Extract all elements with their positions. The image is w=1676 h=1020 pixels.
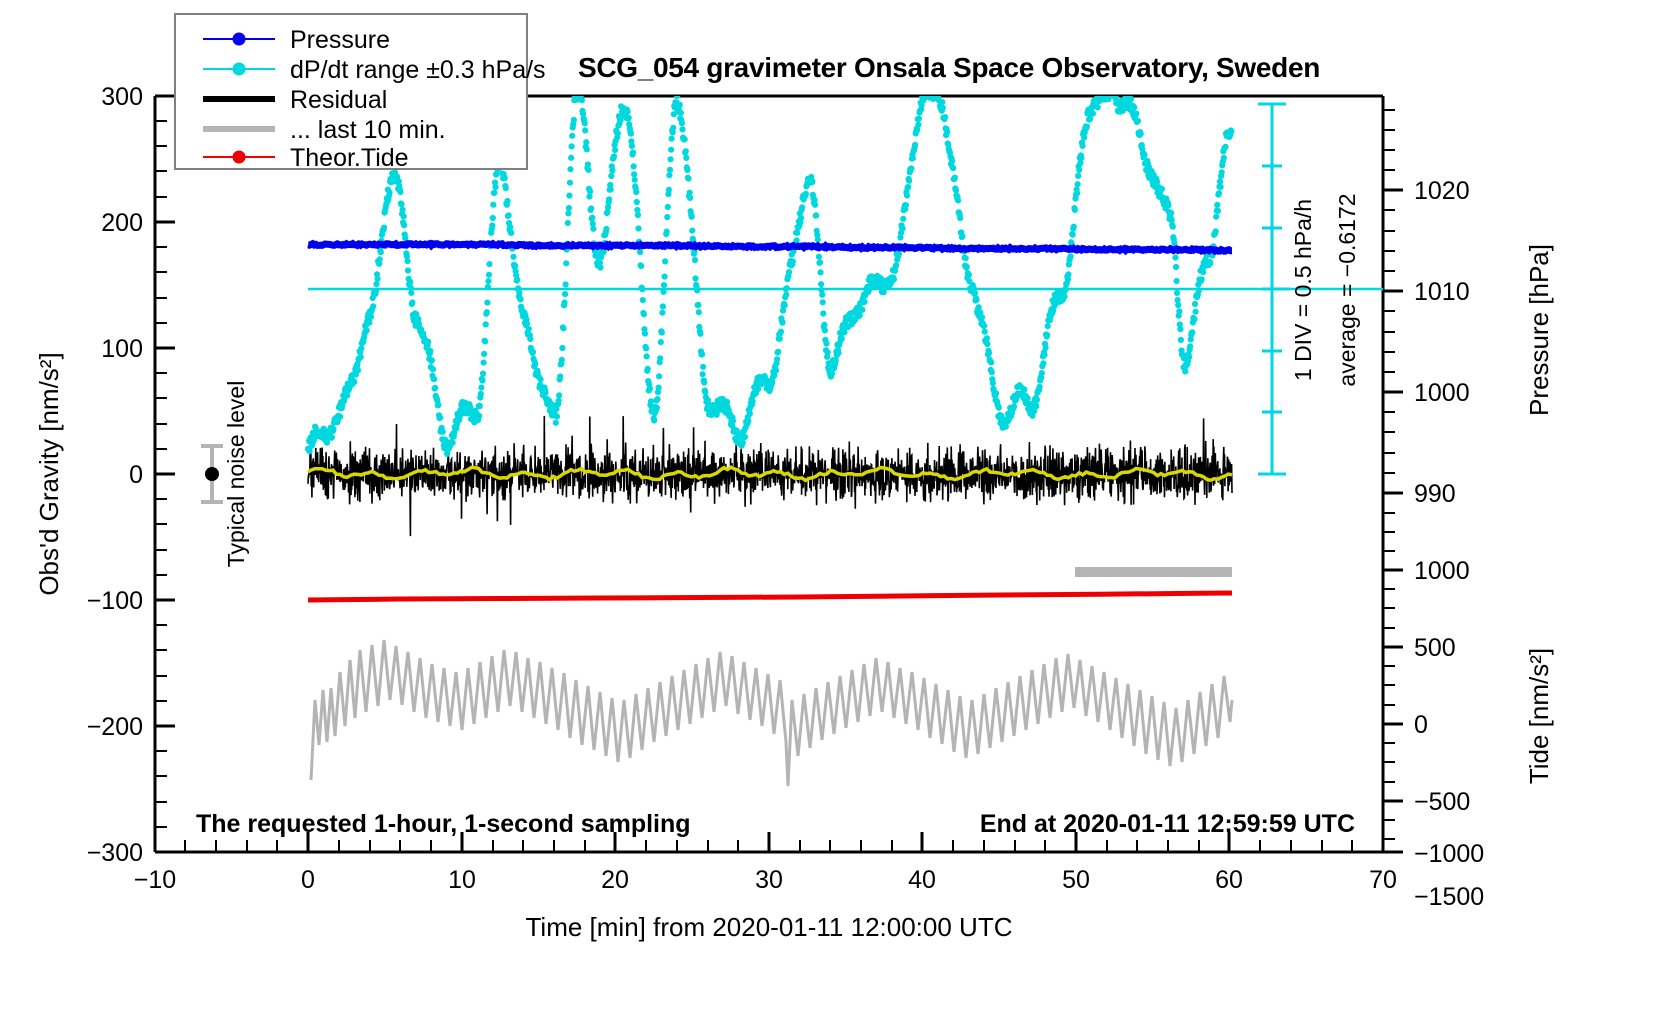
xtick-0: −10 [134, 866, 176, 894]
ytick-left-6: −300 [87, 839, 143, 867]
typical-noise-level-label: Typical noise level [223, 381, 249, 568]
ytick-right-pressure-1: 1010 [1414, 278, 1470, 306]
ytick-left-5: −200 [87, 713, 143, 741]
y-axis-label-left: Obs'd Gravity [nm/s²] [34, 352, 64, 595]
xtick-2: 10 [448, 866, 476, 894]
y-axis-label-right-tide: Tide [nm/s²] [1524, 648, 1554, 784]
ytick-right-tide-1: 500 [1414, 634, 1456, 662]
ytick-right-tide-5: −1500 [1414, 883, 1484, 911]
xtick-8: 70 [1369, 866, 1397, 894]
ytick-right-tide-3: −500 [1414, 788, 1470, 816]
ytick-left-1: 200 [101, 209, 143, 237]
x-axis-label: Time [min] from 2020‑01‑11 12:00:00 UTC [526, 912, 1013, 942]
ytick-right-tide-4: −1000 [1414, 840, 1484, 868]
ytick-right-pressure-3: 990 [1414, 480, 1456, 508]
legend: Pressure dP/dt range ±0.3 hPa/s Residual… [175, 14, 546, 172]
ytick-left-2: 100 [101, 335, 143, 363]
legend-label-residual: Residual [290, 86, 387, 114]
xtick-5: 40 [908, 866, 936, 894]
xtick-1: 0 [301, 866, 315, 894]
chart-svg: 300 200 100 0 −100 −200 −300 Obs'd Gravi… [0, 0, 1676, 1020]
xtick-4: 30 [755, 866, 783, 894]
dpdt-division-label: 1 DIV = 0.5 hPa/h [1290, 199, 1316, 381]
ytick-left-4: −100 [87, 587, 143, 615]
xtick-3: 20 [601, 866, 629, 894]
ytick-right-pressure-2: 1000 [1414, 379, 1470, 407]
gravimeter-chart-figure: 300 200 100 0 −100 −200 −300 Obs'd Gravi… [0, 0, 1676, 1020]
xtick-7: 60 [1215, 866, 1243, 894]
ytick-right-pressure-0: 1020 [1414, 177, 1470, 205]
bottom-left-annotation: The requested 1‑hour, 1‑second sampling [196, 810, 691, 838]
bottom-right-annotation: End at 2020‑01‑11 12:59:59 UTC [980, 810, 1355, 838]
page-title: SCG_054 gravimeter Onsala Space Observat… [578, 52, 1320, 83]
legend-label-dpdt: dP/dt range ±0.3 hPa/s [290, 56, 546, 84]
ytick-left-3: 0 [129, 461, 143, 489]
dpdt-average-label: average = −0.6172 [1334, 193, 1360, 386]
ytick-left-0: 300 [101, 83, 143, 111]
ytick-right-tide-2: 0 [1414, 711, 1428, 739]
xtick-6: 50 [1062, 866, 1090, 894]
y-axis-label-right-pressure: Pressure [hPa] [1524, 244, 1554, 416]
legend-label-theor-tide: Theor.Tide [290, 144, 409, 172]
legend-label-pressure: Pressure [290, 26, 390, 54]
legend-label-last-10-min: ... last 10 min. [290, 116, 446, 144]
ytick-right-tide-0: 1000 [1414, 557, 1470, 585]
